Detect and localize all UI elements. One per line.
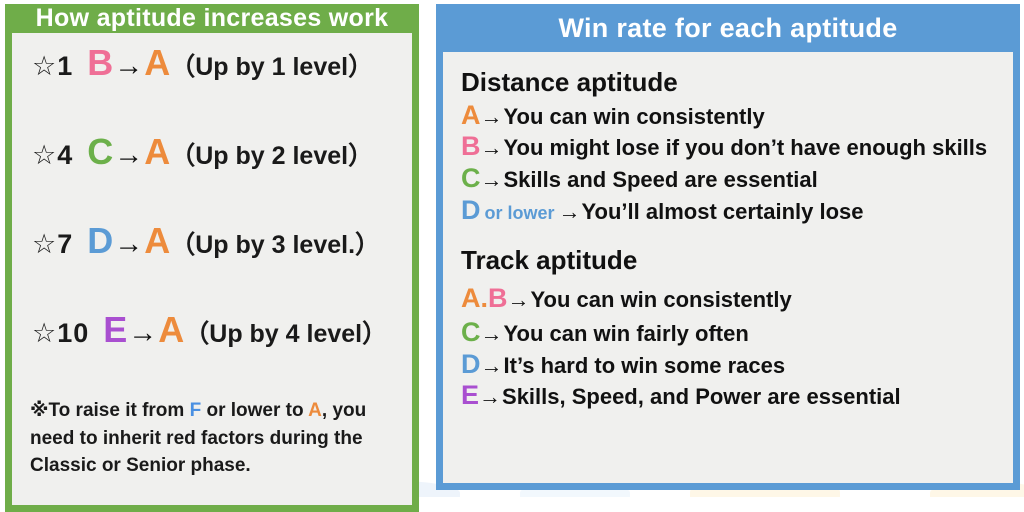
footnote-grade-f: F (190, 400, 202, 421)
star-requirement-label: ☆10 (32, 318, 89, 349)
grade-to: A (144, 45, 170, 81)
footnote-text-part2: or lower to (201, 400, 308, 421)
arrow-icon: → (128, 317, 157, 350)
win-rate-row: C → You can win fairly often (461, 318, 997, 350)
grade-from: E (103, 312, 127, 348)
win-rate-row: E → Skills, Speed, and Power are essenti… (461, 381, 997, 413)
grade-from: C (87, 134, 113, 170)
grade-to: A (144, 223, 170, 259)
grade-label: D (461, 197, 481, 224)
win-rate-panel: Win rate for each aptitude Distance apti… (436, 4, 1020, 490)
star-requirement-label: ☆7 (32, 229, 73, 260)
section-heading-distance: Distance aptitude (461, 66, 997, 99)
section-heading-track: Track aptitude (461, 244, 997, 277)
win-rate-row: C → Skills and Speed are essential (461, 164, 997, 196)
win-rate-description: You can win consistently (531, 284, 792, 316)
grade-qualifier: or lower (485, 200, 555, 226)
arrow-icon: → (559, 196, 581, 228)
aptitude-level-row: ☆1 B → A （Up by 1 level） (26, 45, 398, 134)
grade-label: C (461, 319, 481, 346)
arrow-icon: → (481, 101, 503, 133)
grade-label-secondary: B (488, 285, 508, 312)
arrow-icon: → (114, 228, 143, 261)
level-gain-note: （Up by 4 level） (184, 314, 387, 350)
arrow-icon: → (481, 132, 503, 164)
arrow-icon: → (114, 139, 143, 172)
aptitude-increase-panel-body: ☆1 B → A （Up by 1 level） ☆4 C → A （Up by… (5, 33, 419, 512)
win-rate-description: You can win fairly often (504, 318, 749, 350)
win-rate-description: Skills, Speed, and Power are essential (502, 381, 901, 413)
aptitude-footnote: ※To raise it from F or lower to A, you n… (26, 397, 398, 480)
level-gain-note: （Up by 2 level） (170, 136, 373, 172)
arrow-icon: → (479, 381, 501, 413)
win-rate-panel-body: Distance aptitude A → You can win consis… (436, 52, 1020, 490)
win-rate-description: You’ll almost certainly lose (582, 196, 864, 228)
grade-from: D (87, 223, 113, 259)
aptitude-level-row: ☆7 D → A （Up by 3 level.） (26, 223, 398, 312)
footnote-grade-a: A (308, 400, 322, 421)
win-rate-description: You might lose if you don’t have enough … (504, 132, 988, 164)
grade-label: D (461, 351, 481, 378)
grade-label: B (461, 133, 481, 160)
arrow-icon: → (114, 50, 143, 83)
win-rate-description: You can win consistently (504, 101, 765, 133)
star-requirement-label: ☆1 (32, 51, 73, 82)
grade-label: A (461, 285, 481, 312)
win-rate-description: It’s hard to win some races (504, 350, 786, 382)
win-rate-row: B → You might lose if you don’t have eno… (461, 132, 997, 164)
grade-label: A (461, 102, 481, 129)
arrow-icon: → (481, 318, 503, 350)
arrow-icon: → (481, 350, 503, 382)
win-rate-row: D → It’s hard to win some races (461, 350, 997, 382)
win-rate-row: D or lower → You’ll almost certainly los… (461, 196, 997, 228)
level-gain-note: （Up by 3 level.） (170, 225, 380, 261)
arrow-icon: → (481, 164, 503, 196)
grade-label: E (461, 382, 479, 409)
arrow-icon: → (508, 284, 530, 316)
grade-from: B (87, 45, 113, 81)
aptitude-level-row: ☆10 E → A （Up by 4 level） (26, 312, 398, 401)
infographic-root: How aptitude increases work ☆1 B → A （Up… (0, 0, 1024, 497)
grade-separator-dot: . (481, 279, 489, 318)
aptitude-increase-panel: How aptitude increases work ☆1 B → A （Up… (5, 4, 419, 490)
win-rate-row: A → You can win consistently (461, 101, 997, 133)
grade-to: A (158, 312, 184, 348)
aptitude-level-row: ☆4 C → A （Up by 2 level） (26, 134, 398, 223)
star-requirement-label: ☆4 (32, 140, 73, 171)
level-gain-note: （Up by 1 level） (170, 47, 373, 83)
win-rate-description: Skills and Speed are essential (504, 164, 818, 196)
footnote-text-part1: ※To raise it from (30, 400, 190, 421)
grade-to: A (144, 134, 170, 170)
win-rate-row: A . B → You can win consistently (461, 279, 997, 318)
grade-label: C (461, 165, 481, 192)
win-rate-panel-title: Win rate for each aptitude (436, 4, 1020, 52)
aptitude-increase-panel-title: How aptitude increases work (5, 4, 419, 33)
